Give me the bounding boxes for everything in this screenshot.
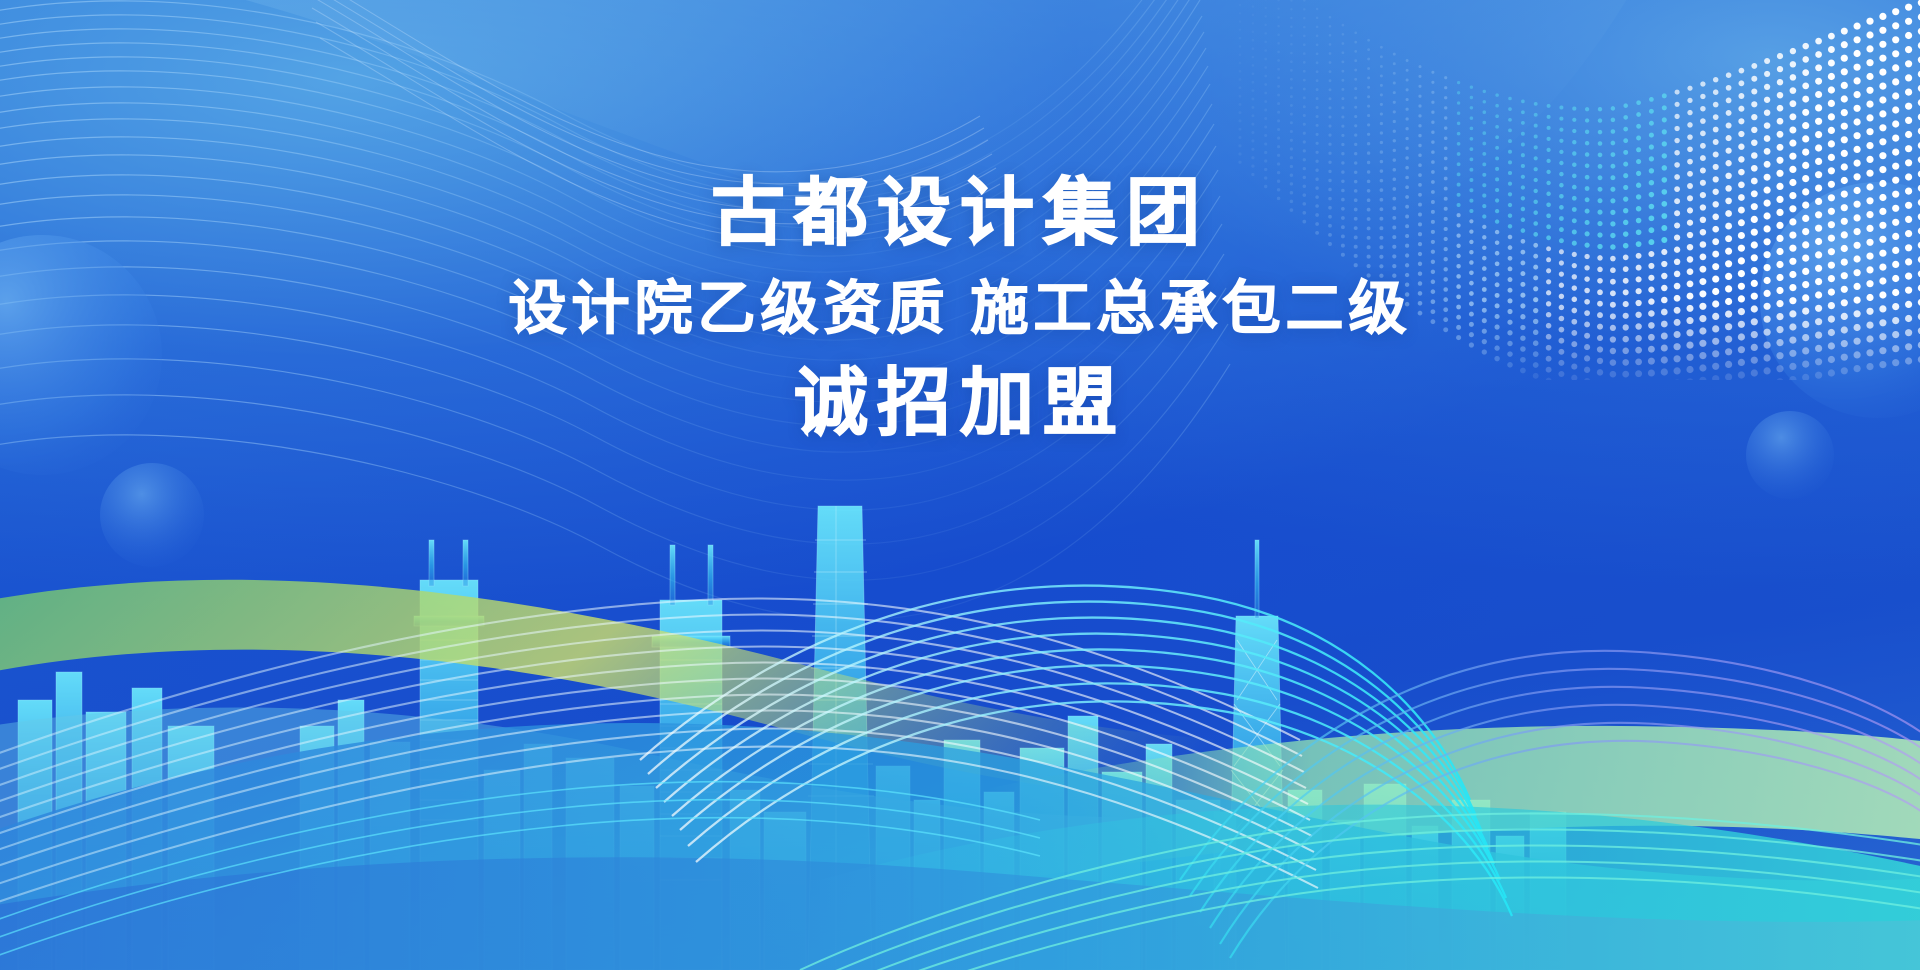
banner-canvas: 古都设计集团 设计院乙级资质 施工总承包二级 诚招加盟 bbox=[0, 0, 1920, 970]
bottom-scenery bbox=[0, 0, 1920, 970]
qualification-line: 设计院乙级资质 施工总承包二级 bbox=[0, 280, 1920, 338]
company-title: 古都设计集团 bbox=[0, 176, 1920, 250]
call-to-action: 诚招加盟 bbox=[0, 366, 1920, 440]
headline-block: 古都设计集团 设计院乙级资质 施工总承包二级 诚招加盟 bbox=[0, 176, 1920, 440]
